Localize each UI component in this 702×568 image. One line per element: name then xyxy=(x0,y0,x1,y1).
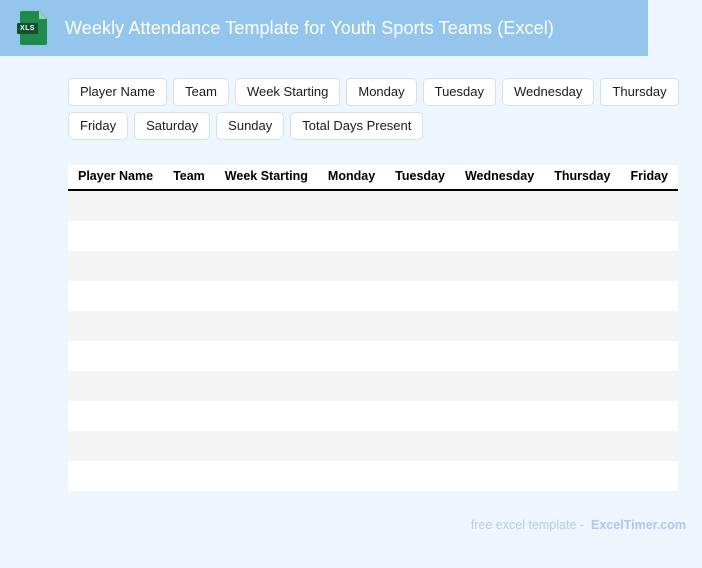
table-cell[interactable] xyxy=(68,311,163,341)
table-cell[interactable] xyxy=(620,461,678,491)
table-cell[interactable] xyxy=(620,281,678,311)
table-cell[interactable] xyxy=(215,431,318,461)
table-cell[interactable] xyxy=(455,190,544,221)
table-row[interactable] xyxy=(68,281,678,311)
attendance-table: Player Name Team Week Starting Monday Tu… xyxy=(68,165,678,491)
field-chip-player-name[interactable]: Player Name xyxy=(68,78,167,106)
column-header-monday[interactable]: Monday xyxy=(318,165,385,190)
table-cell[interactable] xyxy=(385,401,455,431)
column-header-wednesday[interactable]: Wednesday xyxy=(455,165,544,190)
file-icon-badge-label: XLS xyxy=(17,23,38,34)
table-cell[interactable] xyxy=(163,190,215,221)
table-cell[interactable] xyxy=(544,221,620,251)
field-chip-team[interactable]: Team xyxy=(173,78,229,106)
table-cell[interactable] xyxy=(455,221,544,251)
table-cell[interactable] xyxy=(163,221,215,251)
table-cell[interactable] xyxy=(385,341,455,371)
field-chip-wednesday[interactable]: Wednesday xyxy=(502,78,594,106)
table-cell[interactable] xyxy=(318,311,385,341)
table-cell[interactable] xyxy=(68,190,163,221)
table-cell[interactable] xyxy=(385,371,455,401)
table-cell[interactable] xyxy=(68,341,163,371)
table-cell[interactable] xyxy=(455,401,544,431)
xls-file-icon: XLS xyxy=(20,11,47,45)
footer-brand-link[interactable]: ExcelTimer.com xyxy=(591,518,686,532)
field-chip-sunday[interactable]: Sunday xyxy=(216,112,284,140)
table-cell[interactable] xyxy=(68,371,163,401)
table-cell[interactable] xyxy=(163,281,215,311)
table-row[interactable] xyxy=(68,371,678,401)
table-cell[interactable] xyxy=(455,371,544,401)
table-cell[interactable] xyxy=(385,190,455,221)
column-header-player-name[interactable]: Player Name xyxy=(68,165,163,190)
column-header-friday[interactable]: Friday xyxy=(620,165,678,190)
table-cell[interactable] xyxy=(544,311,620,341)
table-cell[interactable] xyxy=(68,401,163,431)
table-row[interactable] xyxy=(68,431,678,461)
table-head: Player Name Team Week Starting Monday Tu… xyxy=(68,165,678,190)
table-cell[interactable] xyxy=(544,431,620,461)
table-row[interactable] xyxy=(68,190,678,221)
table-cell[interactable] xyxy=(163,431,215,461)
table-cell[interactable] xyxy=(68,281,163,311)
table-cell[interactable] xyxy=(318,251,385,281)
footer-credit: free excel template - ExcelTimer.com xyxy=(471,518,686,532)
page-title: Weekly Attendance Template for Youth Spo… xyxy=(65,18,554,39)
table-cell[interactable] xyxy=(455,431,544,461)
table-cell[interactable] xyxy=(620,341,678,371)
table-cell[interactable] xyxy=(215,461,318,491)
table-cell[interactable] xyxy=(620,431,678,461)
table-cell[interactable] xyxy=(318,341,385,371)
table-cell[interactable] xyxy=(620,221,678,251)
table-cell[interactable] xyxy=(163,461,215,491)
field-chip-total-days-present[interactable]: Total Days Present xyxy=(290,112,423,140)
table-cell[interactable] xyxy=(385,431,455,461)
table-cell[interactable] xyxy=(68,461,163,491)
attendance-table-container[interactable]: Player Name Team Week Starting Monday Tu… xyxy=(68,165,678,493)
field-chip-week-starting[interactable]: Week Starting xyxy=(235,78,340,106)
table-row[interactable] xyxy=(68,341,678,371)
table-cell[interactable] xyxy=(620,311,678,341)
table-row[interactable] xyxy=(68,311,678,341)
table-cell[interactable] xyxy=(455,311,544,341)
table-cell[interactable] xyxy=(68,251,163,281)
table-cell[interactable] xyxy=(620,371,678,401)
field-chip-tuesday[interactable]: Tuesday xyxy=(423,78,496,106)
table-cell[interactable] xyxy=(544,281,620,311)
table-cell[interactable] xyxy=(163,371,215,401)
table-row[interactable] xyxy=(68,461,678,491)
table-cell[interactable] xyxy=(544,341,620,371)
table-cell[interactable] xyxy=(68,431,163,461)
column-header-thursday[interactable]: Thursday xyxy=(544,165,620,190)
page-header-bar: XLS Weekly Attendance Template for Youth… xyxy=(0,0,648,56)
table-cell[interactable] xyxy=(215,281,318,311)
table-cell[interactable] xyxy=(215,251,318,281)
field-chip-saturday[interactable]: Saturday xyxy=(134,112,210,140)
table-cell[interactable] xyxy=(385,461,455,491)
table-cell[interactable] xyxy=(620,190,678,221)
table-cell[interactable] xyxy=(455,461,544,491)
table-cell[interactable] xyxy=(544,401,620,431)
table-cell[interactable] xyxy=(544,251,620,281)
file-icon-fold xyxy=(39,11,47,19)
table-row[interactable] xyxy=(68,251,678,281)
table-cell[interactable] xyxy=(620,251,678,281)
table-cell[interactable] xyxy=(385,221,455,251)
table-cell[interactable] xyxy=(215,190,318,221)
table-cell[interactable] xyxy=(163,311,215,341)
table-cell[interactable] xyxy=(163,341,215,371)
table-cell[interactable] xyxy=(544,190,620,221)
table-cell[interactable] xyxy=(318,281,385,311)
table-cell[interactable] xyxy=(455,251,544,281)
table-cell[interactable] xyxy=(385,281,455,311)
table-cell[interactable] xyxy=(544,461,620,491)
table-cell[interactable] xyxy=(215,311,318,341)
field-chip-friday[interactable]: Friday xyxy=(68,112,128,140)
table-cell[interactable] xyxy=(544,371,620,401)
field-chip-list: Player Name Team Week Starting Monday Tu… xyxy=(68,78,680,140)
table-cell[interactable] xyxy=(318,371,385,401)
table-row[interactable] xyxy=(68,221,678,251)
table-cell[interactable] xyxy=(163,401,215,431)
table-cell[interactable] xyxy=(620,401,678,431)
table-cell[interactable] xyxy=(455,341,544,371)
column-header-tuesday[interactable]: Tuesday xyxy=(385,165,455,190)
table-body xyxy=(68,190,678,491)
field-chip-thursday[interactable]: Thursday xyxy=(600,78,678,106)
field-chip-monday[interactable]: Monday xyxy=(346,78,416,106)
table-cell[interactable] xyxy=(385,251,455,281)
table-cell[interactable] xyxy=(318,401,385,431)
table-cell[interactable] xyxy=(215,401,318,431)
footer-note: free excel template - xyxy=(471,518,584,532)
table-cell[interactable] xyxy=(385,311,455,341)
table-cell[interactable] xyxy=(318,221,385,251)
column-header-week-starting[interactable]: Week Starting xyxy=(215,165,318,190)
table-cell[interactable] xyxy=(163,251,215,281)
table-cell[interactable] xyxy=(68,221,163,251)
column-header-team[interactable]: Team xyxy=(163,165,215,190)
table-cell[interactable] xyxy=(215,341,318,371)
table-header-row: Player Name Team Week Starting Monday Tu… xyxy=(68,165,678,190)
table-cell[interactable] xyxy=(215,371,318,401)
table-row[interactable] xyxy=(68,401,678,431)
table-cell[interactable] xyxy=(318,190,385,221)
table-cell[interactable] xyxy=(318,431,385,461)
table-cell[interactable] xyxy=(318,461,385,491)
table-cell[interactable] xyxy=(215,221,318,251)
table-cell[interactable] xyxy=(455,281,544,311)
